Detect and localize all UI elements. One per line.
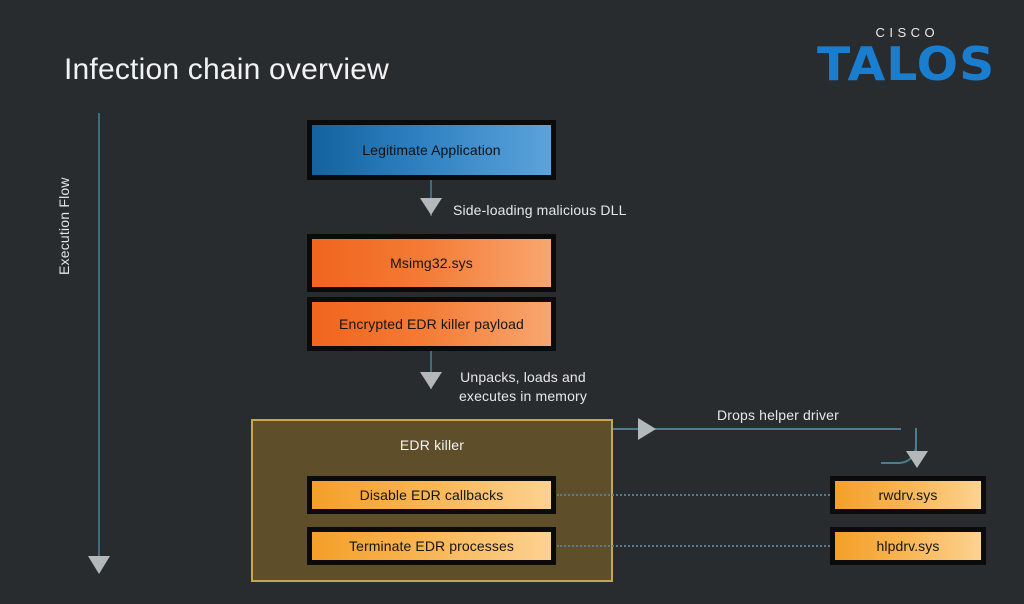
node-rwdrv: rwdrv.sys bbox=[830, 476, 986, 514]
node-msimg32: Msimg32.sys bbox=[307, 234, 556, 292]
node-hlpdrv-label: hlpdrv.sys bbox=[877, 538, 940, 554]
edge-label-drops-helper-driver: Drops helper driver bbox=[717, 406, 839, 425]
node-disable-edr-callbacks: Disable EDR callbacks bbox=[307, 476, 556, 514]
node-disable-edr-callbacks-label: Disable EDR callbacks bbox=[360, 487, 504, 503]
node-legitimate-application: Legitimate Application bbox=[307, 120, 556, 180]
node-terminate-edr-processes-label: Terminate EDR processes bbox=[349, 538, 514, 554]
node-encrypted-payload: Encrypted EDR killer payload bbox=[307, 297, 556, 351]
slide-canvas: Infection chain overview CISCO TALOS Exe… bbox=[0, 0, 1024, 604]
edge-label-unpacks: Unpacks, loads and executes in memory bbox=[459, 368, 587, 406]
execution-flow-line bbox=[98, 113, 100, 558]
execution-flow-label: Execution Flow bbox=[56, 177, 72, 275]
arrow-right-icon-drops bbox=[638, 418, 656, 440]
node-hlpdrv: hlpdrv.sys bbox=[830, 527, 986, 565]
edge-label-unpacks-line2: executes in memory bbox=[459, 387, 587, 406]
node-terminate-edr-processes: Terminate EDR processes bbox=[307, 527, 556, 565]
arrow-down-icon-unpacks bbox=[420, 372, 442, 389]
connector-drops-helper-horizontal bbox=[613, 428, 901, 430]
edge-label-unpacks-line1: Unpacks, loads and bbox=[459, 368, 587, 387]
page-title: Infection chain overview bbox=[64, 53, 389, 87]
execution-flow-arrow-icon bbox=[88, 556, 110, 574]
arrow-down-icon-sideload bbox=[420, 198, 442, 215]
node-edr-killer-label: EDR killer bbox=[253, 437, 611, 453]
arrow-down-icon-drops bbox=[906, 451, 928, 468]
talos-wordmark: TALOS bbox=[817, 43, 995, 87]
node-encrypted-payload-label: Encrypted EDR killer payload bbox=[339, 316, 524, 332]
node-msimg32-label: Msimg32.sys bbox=[390, 255, 473, 271]
connector-dotted-disable-to-rwdrv bbox=[557, 494, 830, 496]
node-rwdrv-label: rwdrv.sys bbox=[879, 487, 938, 503]
node-legitimate-application-label: Legitimate Application bbox=[362, 142, 500, 158]
connector-dotted-terminate-to-hlpdrv bbox=[557, 545, 830, 547]
edge-label-side-loading: Side-loading malicious DLL bbox=[453, 201, 627, 220]
cisco-talos-logo: CISCO TALOS bbox=[822, 26, 990, 87]
